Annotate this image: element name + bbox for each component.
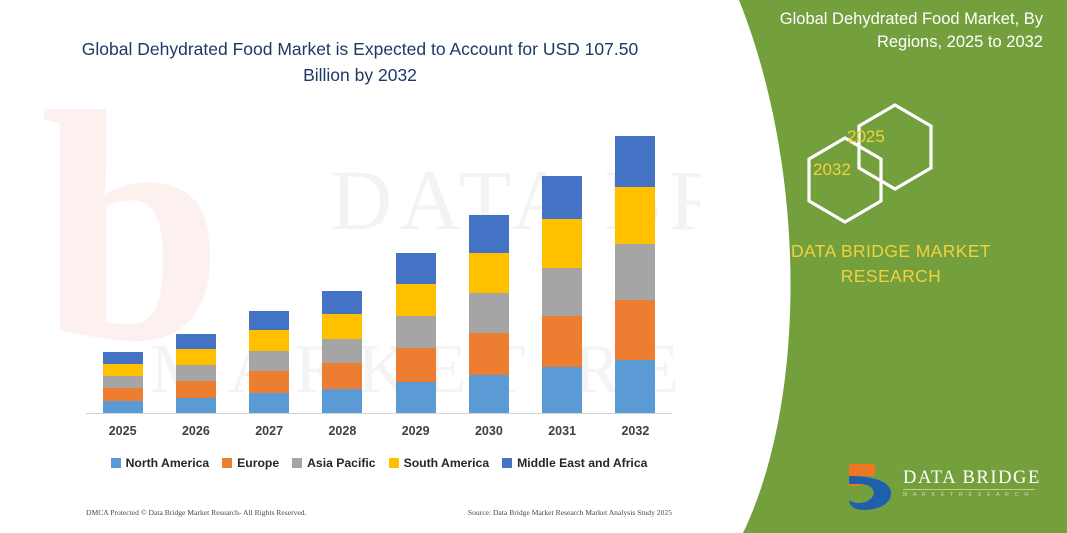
- legend-swatch-icon: [111, 458, 121, 468]
- legend-item[interactable]: South America: [389, 456, 490, 470]
- legend-label: Asia Pacific: [307, 456, 375, 470]
- x-axis-label-2025: 2025: [86, 424, 159, 438]
- hex-badge-2025-label: 2025: [847, 127, 885, 147]
- bar-segment: [103, 364, 143, 376]
- bar-segment: [103, 401, 143, 413]
- stacked-bar: [469, 215, 509, 413]
- brand-logo-text: DATA BRIDGE: [903, 468, 1041, 489]
- legend-swatch-icon: [292, 458, 302, 468]
- bar-segment: [176, 334, 216, 349]
- bar-segment: [176, 381, 216, 398]
- brand-logo-divider: [903, 489, 1035, 490]
- bar-segment: [176, 398, 216, 413]
- brand-name: DATA BRIDGE MARKET RESEARCH: [667, 239, 1067, 289]
- legend-item[interactable]: Asia Pacific: [292, 456, 375, 470]
- bar-segment: [396, 316, 436, 348]
- x-axis-label-2030: 2030: [452, 424, 525, 438]
- bar-column-2025: [86, 130, 159, 413]
- bar-segment: [249, 371, 289, 393]
- bar-segment: [396, 348, 436, 382]
- bar-segment: [396, 253, 436, 284]
- bar-segment: [469, 253, 509, 293]
- bar-column-2031: [526, 130, 599, 413]
- bar-segment: [396, 284, 436, 316]
- bar-column-2032: [599, 130, 672, 413]
- stacked-bar: [249, 311, 289, 413]
- bar-segment: [542, 268, 582, 316]
- bar-segment: [249, 311, 289, 330]
- legend-label: Europe: [237, 456, 279, 470]
- bar-segment: [103, 352, 143, 364]
- bar-segment: [542, 316, 582, 367]
- stacked-bar: [542, 176, 582, 413]
- bar-column-2029: [379, 130, 452, 413]
- x-axis-label-2032: 2032: [599, 424, 672, 438]
- x-axis-label-2026: 2026: [159, 424, 232, 438]
- bar-segment: [615, 300, 655, 360]
- bar-segment: [615, 244, 655, 300]
- bar-segment: [322, 363, 362, 389]
- stacked-bar: [176, 334, 216, 413]
- stacked-bar-series: [86, 130, 672, 413]
- bar-segment: [542, 367, 582, 413]
- stacked-bar: [615, 136, 655, 413]
- x-axis-line: [86, 413, 672, 414]
- hex-badge-2032-label: 2032: [813, 160, 851, 180]
- chart-legend: North AmericaEuropeAsia PacificSouth Ame…: [86, 456, 672, 470]
- bar-segment: [615, 136, 655, 187]
- legend-swatch-icon: [502, 458, 512, 468]
- footer-source: Source: Data Bridge Market Research Mark…: [468, 508, 672, 517]
- bar-column-2030: [452, 130, 525, 413]
- infographic-root: b DATA BRIDGE MARKET RESEARCH Global Deh…: [0, 0, 1067, 533]
- bar-segment: [615, 360, 655, 413]
- bar-column-2027: [233, 130, 306, 413]
- legend-item[interactable]: North America: [111, 456, 210, 470]
- bar-segment: [322, 339, 362, 363]
- x-axis-label-2028: 2028: [306, 424, 379, 438]
- bar-column-2026: [159, 130, 232, 413]
- legend-label: Middle East and Africa: [517, 456, 647, 470]
- footer-copyright: DMCA Protected © Data Bridge Market Rese…: [86, 508, 306, 517]
- bar-segment: [615, 187, 655, 244]
- x-axis-label-2027: 2027: [233, 424, 306, 438]
- stacked-bar: [103, 352, 143, 413]
- stacked-bar: [322, 291, 362, 413]
- legend-swatch-icon: [222, 458, 232, 468]
- legend-item[interactable]: Middle East and Africa: [502, 456, 647, 470]
- bar-segment: [249, 330, 289, 351]
- bar-segment: [469, 375, 509, 413]
- bar-segment: [542, 176, 582, 219]
- bar-segment: [542, 219, 582, 268]
- bar-segment: [469, 293, 509, 333]
- bar-segment: [103, 376, 143, 388]
- legend-label: South America: [404, 456, 490, 470]
- bar-segment: [249, 393, 289, 413]
- legend-label: North America: [126, 456, 210, 470]
- legend-swatch-icon: [389, 458, 399, 468]
- bar-segment: [469, 215, 509, 253]
- brand-panel: Global Dehydrated Food Market, By Region…: [667, 0, 1067, 533]
- page-title: Global Dehydrated Food Market is Expecte…: [60, 36, 660, 88]
- brand-logo: DATA BRIDGE M A R K E T R E S E A R C H: [845, 462, 1045, 514]
- bar-segment: [103, 388, 143, 401]
- data-bridge-logo-icon: [845, 462, 897, 512]
- bar-segment: [322, 291, 362, 314]
- bar-column-2028: [306, 130, 379, 413]
- brand-logo-subtitle: M A R K E T R E S E A R C H: [903, 492, 1030, 498]
- bar-segment: [396, 382, 436, 413]
- legend-item[interactable]: Europe: [222, 456, 279, 470]
- bar-segment: [469, 333, 509, 375]
- x-axis-label-2031: 2031: [526, 424, 599, 438]
- x-axis-tick-labels: 20252026202720282029203020312032: [86, 424, 672, 438]
- x-axis-label-2029: 2029: [379, 424, 452, 438]
- bar-segment: [249, 351, 289, 371]
- bar-segment: [322, 314, 362, 339]
- bar-segment: [176, 349, 216, 365]
- stacked-bar: [396, 253, 436, 413]
- footer: DMCA Protected © Data Bridge Market Rese…: [86, 508, 672, 517]
- bar-segment: [176, 365, 216, 381]
- bar-segment: [322, 389, 362, 413]
- chart-area: Global Dehydrated Food Market is Expecte…: [0, 0, 700, 533]
